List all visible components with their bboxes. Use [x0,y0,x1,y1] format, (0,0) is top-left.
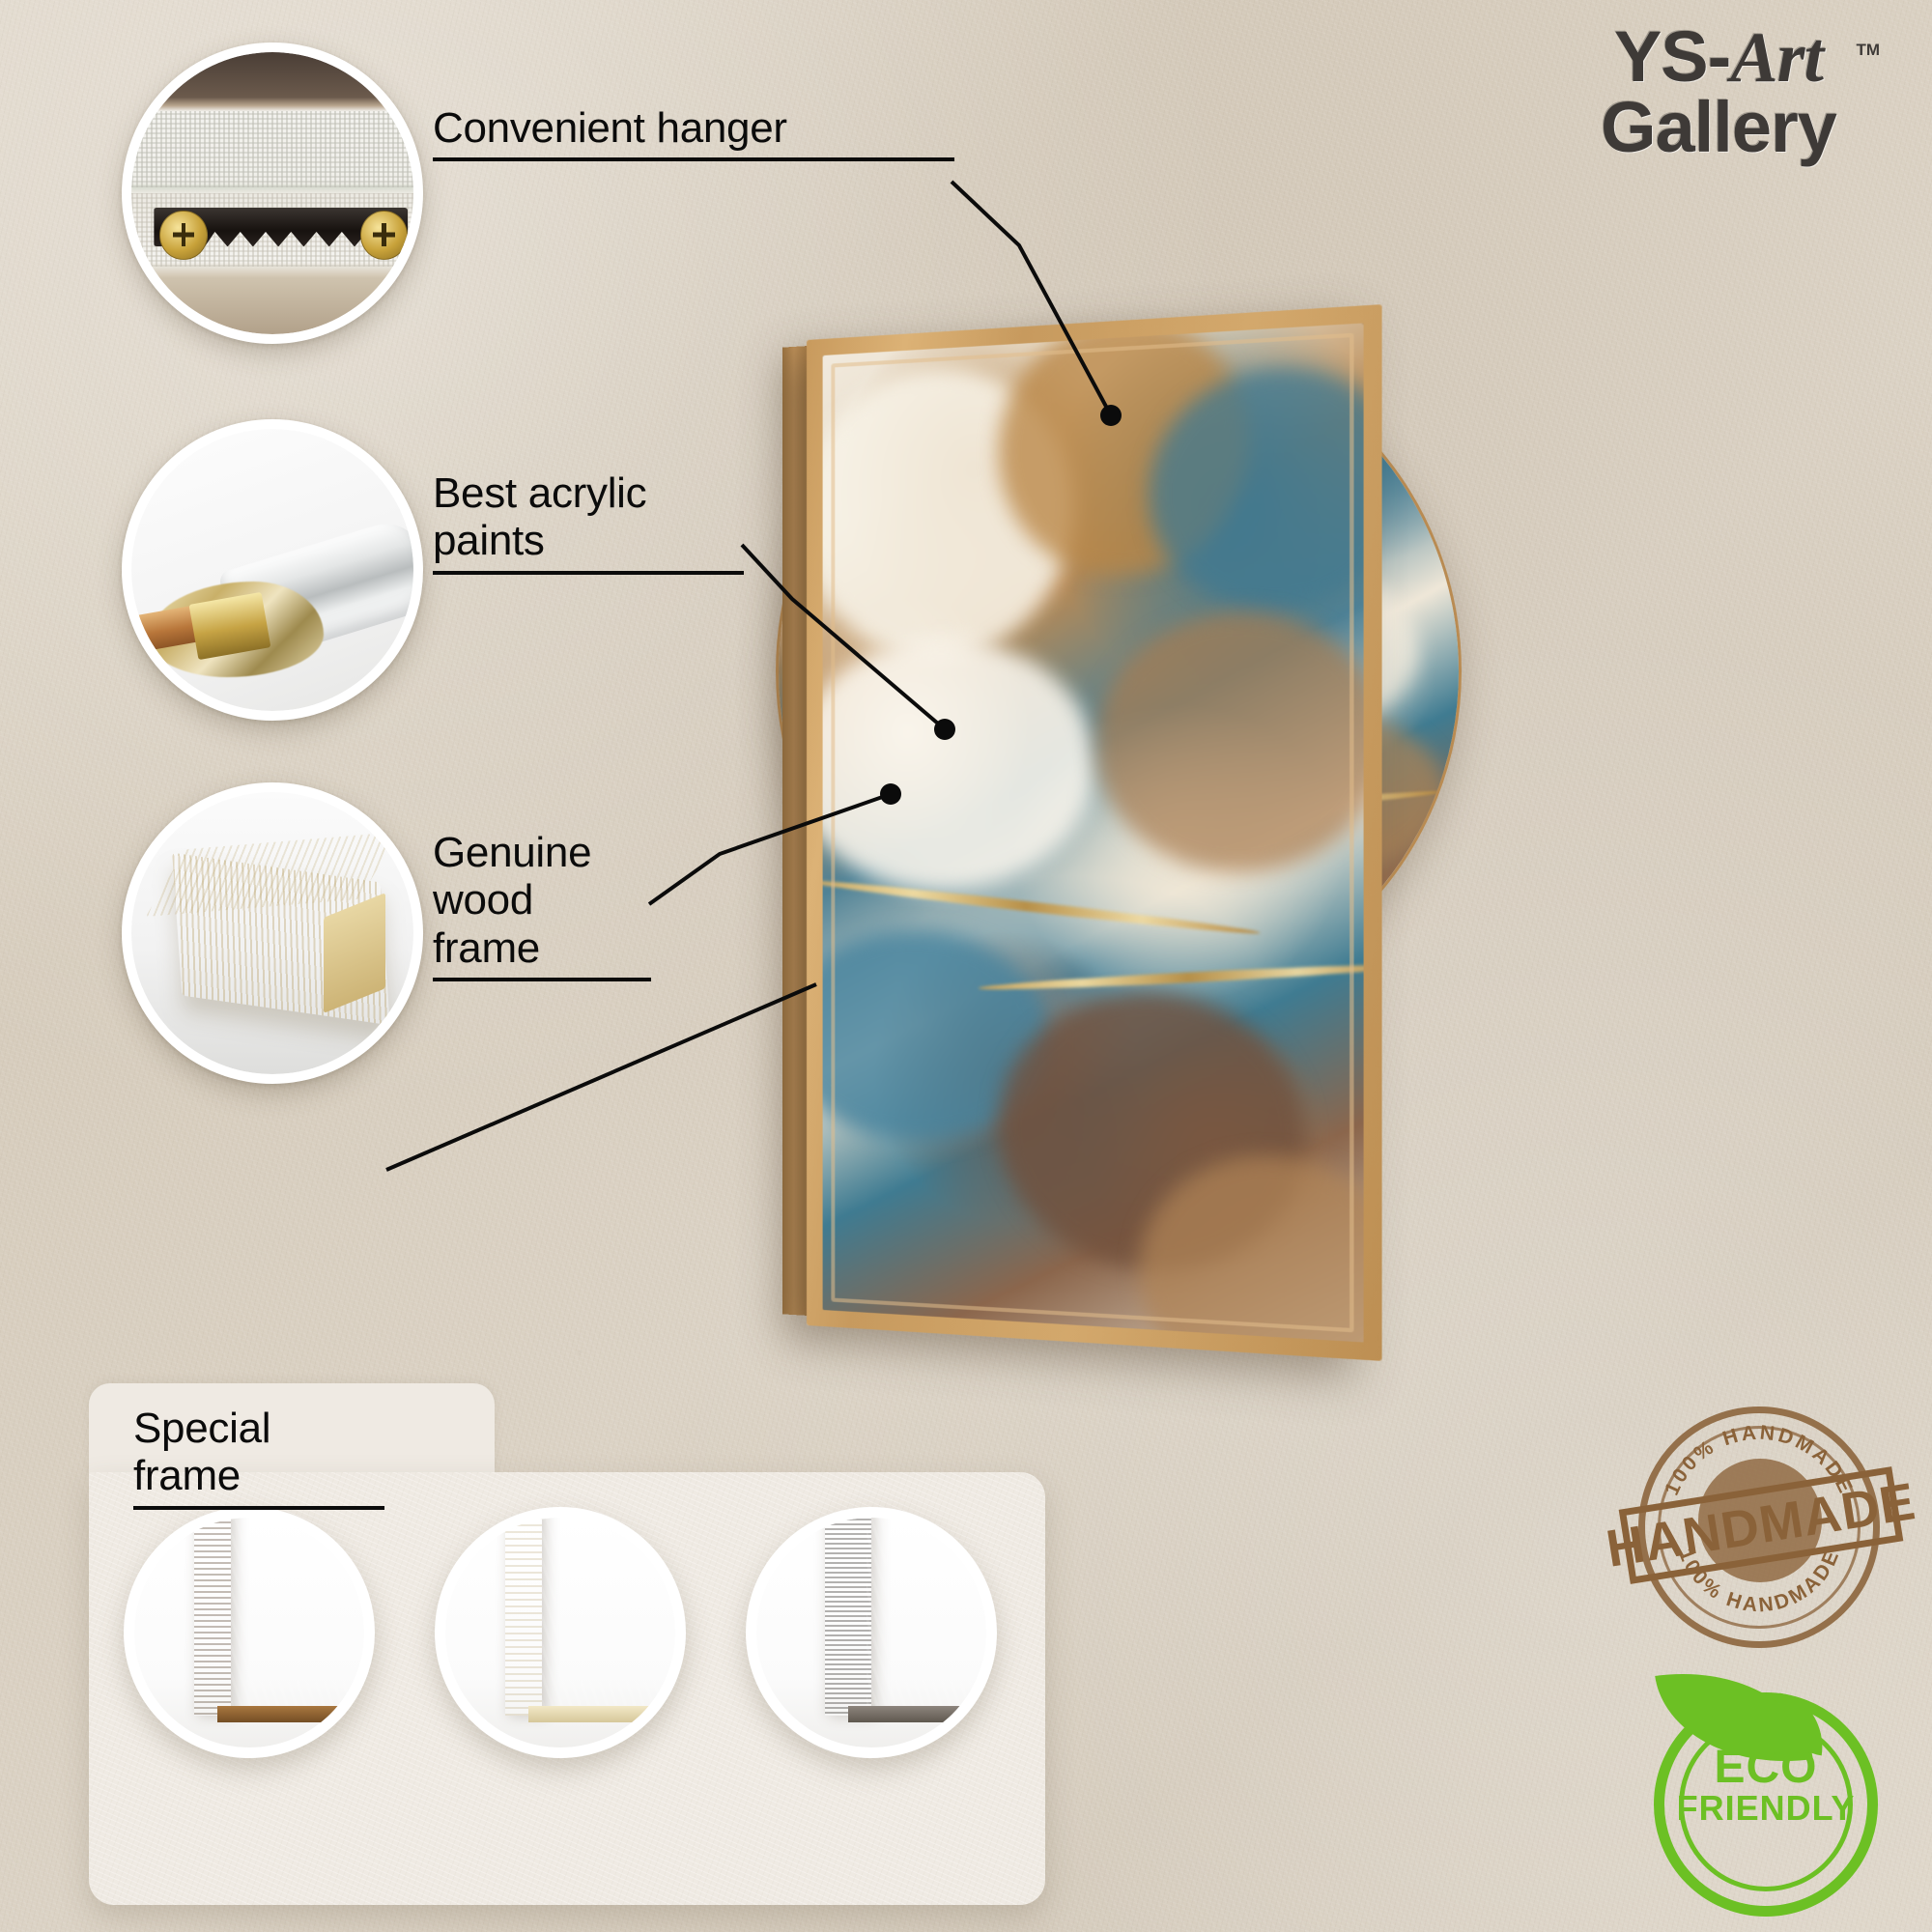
thumb-canvas-1 [231,1518,364,1706]
canvas-face [823,323,1364,1342]
thumb-frame-edge-2 [505,1518,542,1716]
callout-underline-hanger [433,157,954,161]
logo-art: Art [1730,18,1823,98]
wood-photo [131,792,413,1074]
callout-label-paints-text: Best acrylic paints [433,469,744,565]
canvas-weave-upper [131,111,413,187]
logo-line-2: Gallery [1559,92,1878,163]
natural-pine-frame-thumbnail [445,1518,675,1747]
brass-screw-right [360,211,409,261]
callout-label-hanger: Convenient hanger [433,104,954,161]
frame-option-natural[interactable] [435,1507,686,1758]
callout-underline-special-frame [133,1506,384,1510]
frame-option-walnut[interactable] [124,1507,375,1758]
frame-perspective [807,304,1382,1361]
brass-screw-left [159,211,208,261]
trademark-symbol: TM [1856,41,1880,60]
thumb-frame-bottom-2 [528,1706,675,1722]
callout-underline-wood [433,978,651,981]
callout-label-hanger-text: Convenient hanger [433,104,954,152]
eco-line-1: ECO [1644,1745,1888,1791]
thumb-canvas-2 [542,1518,675,1706]
special-frame-panel: Special frame [89,1383,1045,1905]
frame-inner-lip [831,333,1353,1333]
feature-photo-paints [122,419,423,721]
callout-label-paints: Best acrylic paints [433,469,744,575]
thumb-frame-bottom-1 [217,1706,364,1722]
hanger-photo [131,52,413,334]
eco-text-block: ECO FRIENDLY [1644,1745,1888,1826]
walnut-frame-thumbnail [134,1518,364,1747]
callout-underline-paints [433,571,744,575]
feature-photo-hanger [122,43,423,344]
callout-label-wood-text: Genuine wood frame [433,829,651,972]
callout-label-wood: Genuine wood frame [433,829,651,981]
handmade-stamp-badge: 100% HANDMADE 100% HANDMADE HANDMADE [1631,1399,1888,1656]
thumb-canvas-3 [867,1518,986,1706]
brand-logo: YS-Art Gallery TM [1559,23,1878,163]
thumb-frame-edge-1 [194,1518,231,1716]
callout-label-special-frame-text: Special frame [133,1405,384,1500]
grey-driftwood-frame-thumbnail [756,1518,986,1747]
thumb-frame-edge-3 [825,1518,871,1716]
logo-ys: YS- [1614,16,1730,97]
framed-painting [807,340,1357,1325]
paint-photo [131,429,413,711]
logo-line-1: YS-Art [1559,23,1878,92]
thumb-frame-bottom-3 [848,1706,986,1722]
feature-photo-wood [122,782,423,1084]
frame-option-grey[interactable] [746,1507,997,1758]
main-artwork [768,319,1478,1034]
eco-friendly-badge: ECO FRIENDLY [1644,1683,1888,1926]
callout-label-special-frame: Special frame [133,1405,384,1510]
eco-line-2: FRIENDLY [1644,1791,1888,1826]
frame-depth-side [782,346,809,1316]
